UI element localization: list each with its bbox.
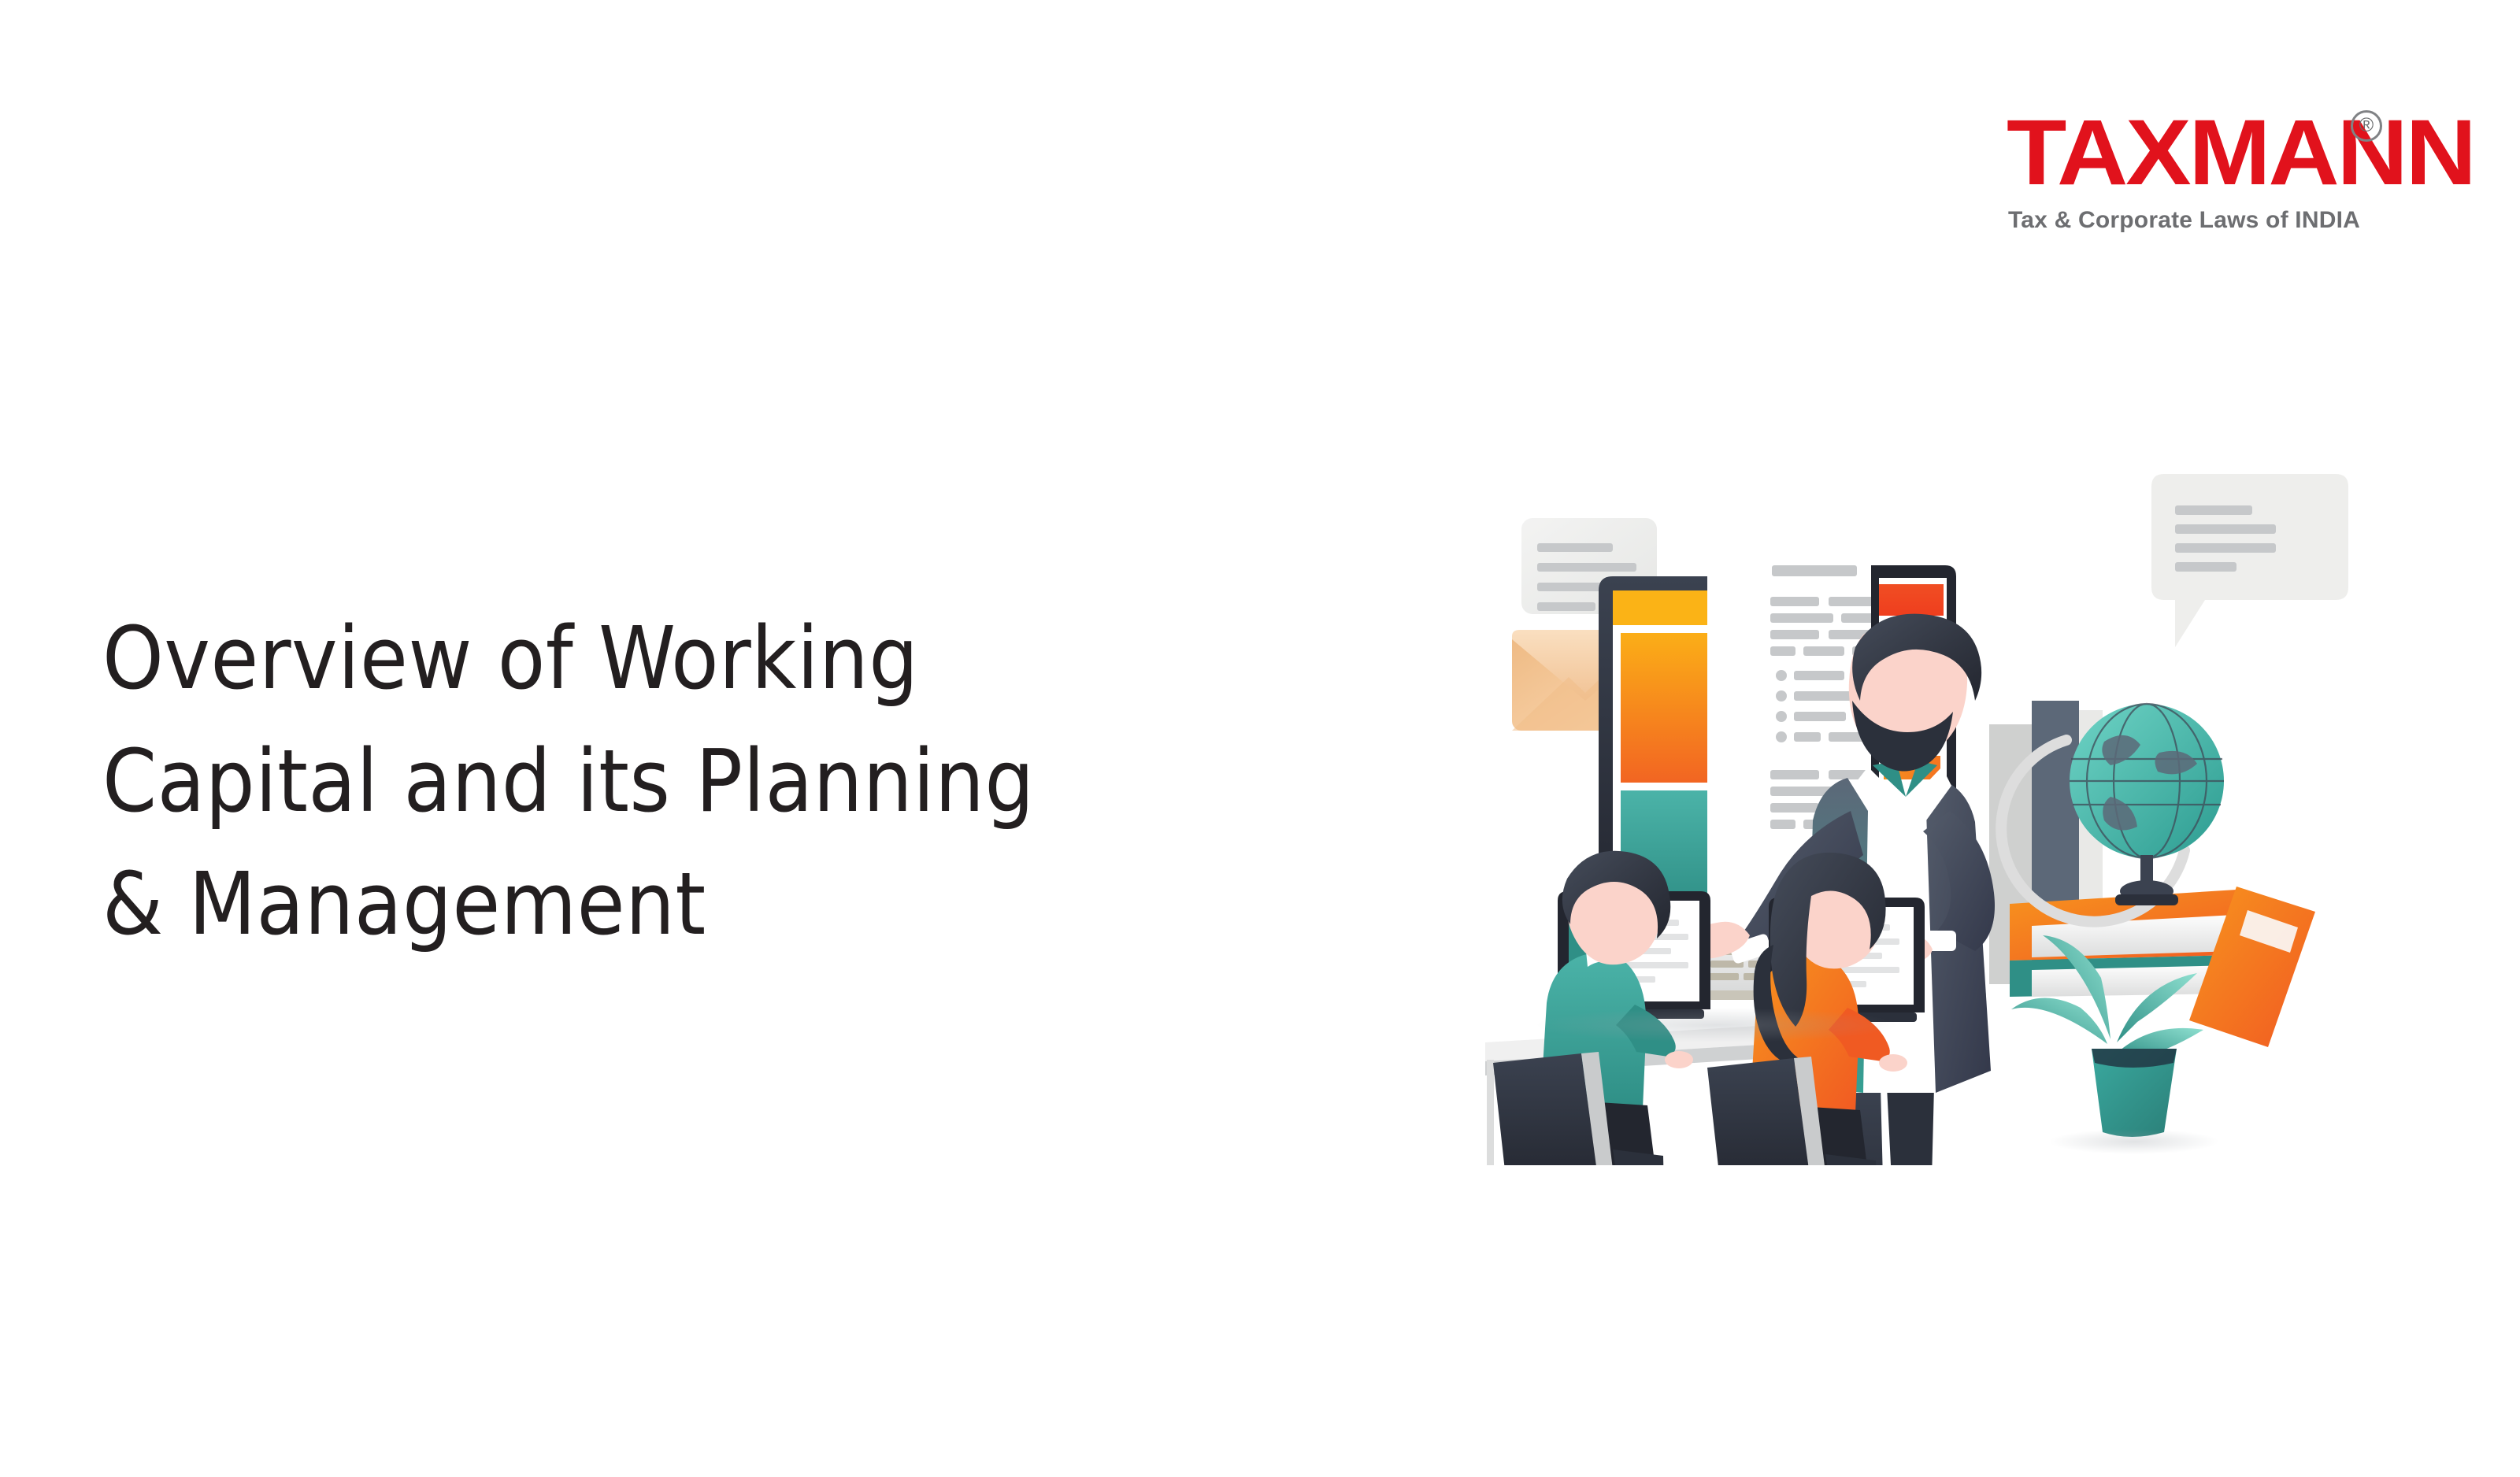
screen-block-yellow xyxy=(1613,590,1709,625)
laptop-shadow xyxy=(1536,1008,1898,1042)
title-line-1: Overview of Working xyxy=(102,597,1394,720)
title-line-3: & Management xyxy=(102,842,1394,965)
seated-person-teal xyxy=(1480,851,1710,1165)
slide-canvas: TAXMANN ® Tax & Corporate Laws of INDIA … xyxy=(0,0,2520,1477)
taxmann-wordmark: TAXMANN xyxy=(2007,106,2391,199)
speech-bubble-icon xyxy=(2151,474,2348,647)
page-title: Overview of Working Capital and its Plan… xyxy=(102,597,1394,965)
title-line-2: Capital and its Planning xyxy=(102,720,1394,842)
screen-block-orange xyxy=(1621,633,1709,783)
taxmann-tagline: Tax & Corporate Laws of INDIA xyxy=(2008,207,2360,234)
taxmann-logo: TAXMANN ® Tax & Corporate Laws of INDIA xyxy=(2007,106,2369,240)
hero-illustration xyxy=(1480,441,2457,1165)
registered-trademark-icon: ® xyxy=(2351,110,2382,142)
